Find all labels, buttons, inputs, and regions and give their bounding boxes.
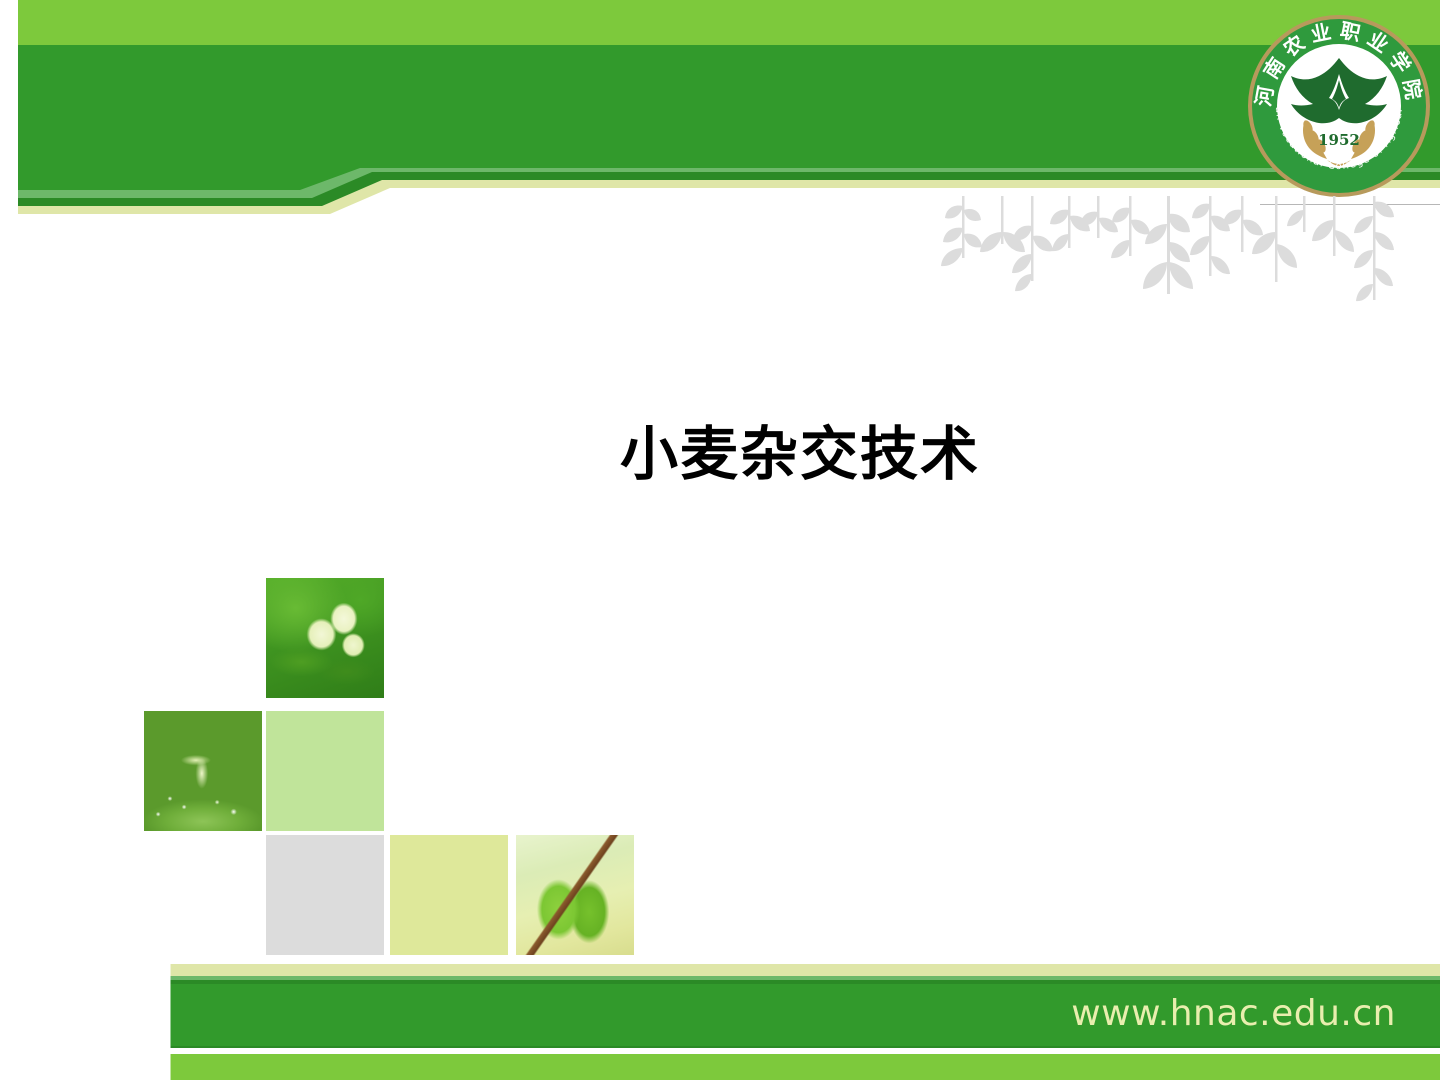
footer-website-url[interactable]: www.hnac.edu.cn [1071,993,1396,1034]
footer-band-bright [171,1054,1440,1080]
tile-lightgreen-block [266,711,384,831]
plant-photo-collage [140,572,640,960]
tile-flower-photo [266,578,384,698]
tile-seedlings-photo [390,711,508,831]
header-band-bright [18,0,1440,45]
slide-title: 小麦杂交技术 [0,418,1440,490]
college-logo-emblem: 1952 河南农业职业学院 Henan Vocational College o… [1247,14,1431,198]
hanging-vine-decoration [935,196,1413,312]
college-logo: 1952 河南农业职业学院 Henan Vocational College o… [1247,14,1431,198]
tile-sprout-photo [144,711,262,831]
logo-year-text: 1952 [1318,131,1360,149]
presentation-slide: 1952 河南农业职业学院 Henan Vocational College o… [0,0,1440,1080]
vine-shape-group [935,196,1413,312]
